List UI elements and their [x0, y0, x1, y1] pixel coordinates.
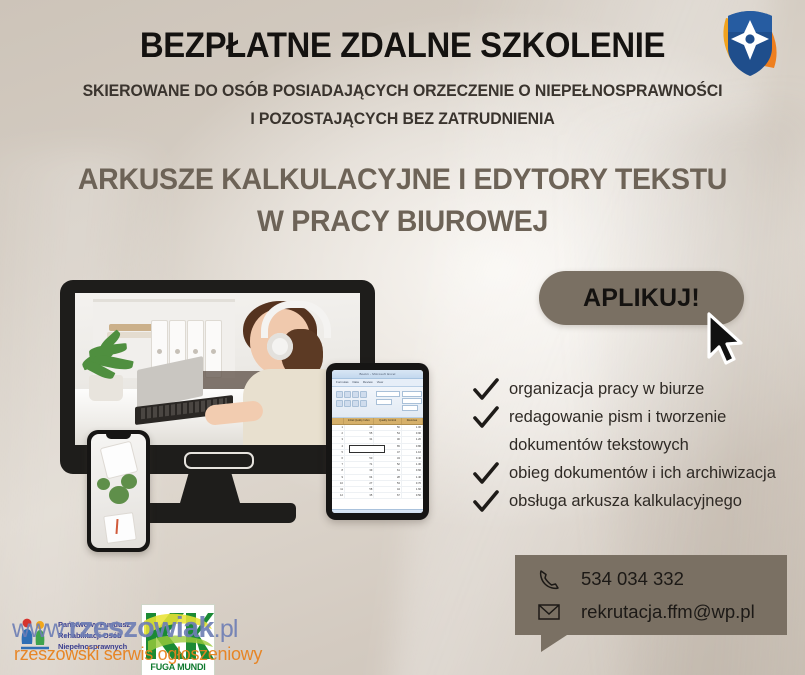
cell: 12 — [332, 493, 345, 498]
cell: 43 — [345, 425, 374, 430]
headphone-earcup — [267, 333, 293, 360]
cell: 3 — [332, 437, 345, 442]
list-item-label: obieg dokumentów i ich archiwizacja — [509, 464, 776, 482]
cell: 56 — [374, 425, 402, 430]
watermark-name: rzeszowiak — [69, 612, 214, 644]
mouse-arrow-cursor-icon — [703, 311, 749, 369]
cell: 58 — [345, 487, 374, 492]
cell: 0.60 — [402, 468, 423, 473]
checkmark-icon — [473, 406, 499, 430]
cell: 1.30 — [402, 462, 423, 467]
phone-handset-icon — [537, 568, 561, 590]
cell: 10 — [332, 481, 345, 486]
cell: 6 — [332, 456, 345, 461]
cell: 35 — [345, 493, 374, 498]
cell: 31 — [345, 437, 374, 442]
table-row: 12 35 67 0.50 — [332, 493, 423, 499]
cell: 27 — [345, 481, 374, 486]
cell: 64 — [345, 475, 374, 480]
poster-canvas: BEZPŁATNE ZDALNE SZKOLENIE SKIEROWANE DO… — [0, 0, 805, 675]
checkmark-icon — [473, 462, 499, 486]
plant — [97, 478, 110, 490]
watermark-suffix: .pl — [214, 615, 238, 643]
envelope-icon — [537, 601, 561, 623]
tab-formulas[interactable]: Formulas — [336, 379, 349, 386]
list-item-continuation: dokumentów tekstowych — [471, 431, 801, 459]
tab-view[interactable]: View — [377, 379, 383, 386]
checkmark-icon — [473, 378, 499, 402]
spreadsheet-ribbon-tabs: Formulas Data Review View — [332, 379, 423, 387]
spreadsheet-rows: 1 43 56 1.00 2 55 54 0.90 3 31 46 — [332, 425, 423, 509]
list-item: redagowanie pism i tworzenie — [471, 403, 801, 431]
spreadsheet-status-bar — [332, 509, 423, 513]
contact-box-tail — [541, 635, 567, 652]
plant — [109, 486, 129, 504]
cell: 1.20 — [402, 437, 423, 442]
checkmark-icon — [473, 490, 499, 514]
subtitle-line-1: SKIEROWANE DO OSÓB POSIADAJĄCYCH ORZECZE… — [16, 82, 789, 101]
cell: 4 — [332, 444, 345, 449]
cell: 61 — [374, 468, 402, 473]
monitor-stand-slot — [184, 452, 254, 469]
contact-phone-number: 534 034 332 — [581, 568, 684, 589]
cell: 52 — [374, 462, 402, 467]
binder — [205, 320, 222, 378]
subtitle-line-2: I POZOSTAJĄCYCH BEZ ZATRUDNIENIA — [16, 110, 789, 129]
cell: 28 — [374, 475, 402, 480]
contact-box: 534 034 332 rekrutacja.ffm@wp.pl — [515, 555, 787, 635]
watermark-tagline: rzeszowski serwis ogłoszeniowy — [14, 644, 314, 665]
cell: 67 — [374, 493, 402, 498]
cell: 11 — [332, 487, 345, 492]
cell: 39 — [345, 468, 374, 473]
watermark-brand: www.rzeszowiak.pl — [12, 612, 302, 645]
list-item: obieg dokumentów i ich archiwizacja — [471, 459, 801, 487]
benefits-checklist: organizacja pracy w biurze redagowanie p… — [471, 375, 801, 515]
cell: 8 — [332, 468, 345, 473]
cell: 0.50 — [402, 493, 423, 498]
course-title-line-1: ARKUSZE KALKULACYJNE I EDYTORY TEKSTU — [20, 163, 785, 197]
selected-cell[interactable] — [349, 445, 385, 453]
cell: 54 — [374, 431, 402, 436]
cell: 0.90 — [402, 431, 423, 436]
notebook-object — [103, 512, 137, 544]
plant-pot — [89, 375, 123, 401]
list-item-label: organizacja pracy w biurze — [509, 380, 704, 398]
list-item: organizacja pracy w biurze — [471, 375, 801, 403]
tablet: Book1 - Microsoft Excel Formulas Data Re… — [326, 363, 429, 520]
cell: 34 — [374, 456, 402, 461]
cell: 53 — [374, 481, 402, 486]
cell: 71 — [345, 462, 374, 467]
list-item: obsługa arkusza kalkulacyjnego — [471, 487, 801, 515]
column-header: Quality Control — [374, 418, 402, 424]
page-title: BEZPŁATNE ZDALNE SZKOLENIE — [24, 26, 781, 66]
podkarpackie-shield-cross-emblem — [716, 6, 784, 80]
column-header — [332, 418, 344, 424]
cell: 55 — [345, 431, 374, 436]
cell: 9 — [332, 475, 345, 480]
cell: 1.60 — [402, 487, 423, 492]
cell: 1 — [332, 425, 345, 430]
tab-review[interactable]: Review — [363, 379, 373, 386]
spreadsheet-ribbon — [332, 387, 423, 418]
list-item-label: obsługa arkusza kalkulacyjnego — [509, 492, 742, 510]
cell: 50 — [345, 456, 374, 461]
desk-tablet-object — [100, 441, 139, 480]
column-header: Initial Quality Index — [344, 418, 374, 424]
contact-phone-row[interactable]: 534 034 332 — [537, 563, 684, 595]
cell: 7 — [332, 462, 345, 467]
spreadsheet-column-headers: Initial Quality Index Quality Control Re… — [332, 418, 423, 425]
cell: 1.10 — [402, 450, 423, 455]
cell: 44 — [374, 487, 402, 492]
cell: 0.80 — [402, 444, 423, 449]
device-illustration: Book1 - Microsoft Excel Formulas Data Re… — [52, 263, 452, 558]
cell: 1.00 — [402, 425, 423, 430]
tab-data[interactable]: Data — [353, 379, 359, 386]
cell: 1.40 — [402, 475, 423, 480]
phone-notch — [106, 434, 131, 439]
cell: 0.40 — [402, 456, 423, 461]
spreadsheet-title-bar: Book1 - Microsoft Excel — [332, 370, 423, 379]
smartphone — [87, 430, 150, 552]
course-title-line-2: W PRACY BIUROWEJ — [20, 205, 785, 239]
list-item-label: dokumentów tekstowych — [509, 436, 689, 454]
watermark-prefix: www. — [12, 615, 69, 643]
monitor-neck — [180, 474, 240, 503]
contact-email-row[interactable]: rekrutacja.ffm@wp.pl — [537, 596, 755, 628]
contact-email-address: rekrutacja.ffm@wp.pl — [581, 601, 755, 622]
spreadsheet-title: Book1 - Microsoft Excel — [332, 370, 423, 378]
column-header: Revenue — [402, 418, 423, 424]
cell: 0.70 — [402, 481, 423, 486]
cell: 46 — [374, 437, 402, 442]
tablet-screen: Book1 - Microsoft Excel Formulas Data Re… — [332, 370, 423, 513]
monitor-base — [130, 503, 296, 523]
cell: 2 — [332, 431, 345, 436]
phone-screen — [91, 434, 146, 548]
list-item-label: redagowanie pism i tworzenie — [509, 408, 726, 426]
cell: 5 — [332, 450, 345, 455]
monitor-screen — [75, 293, 360, 445]
